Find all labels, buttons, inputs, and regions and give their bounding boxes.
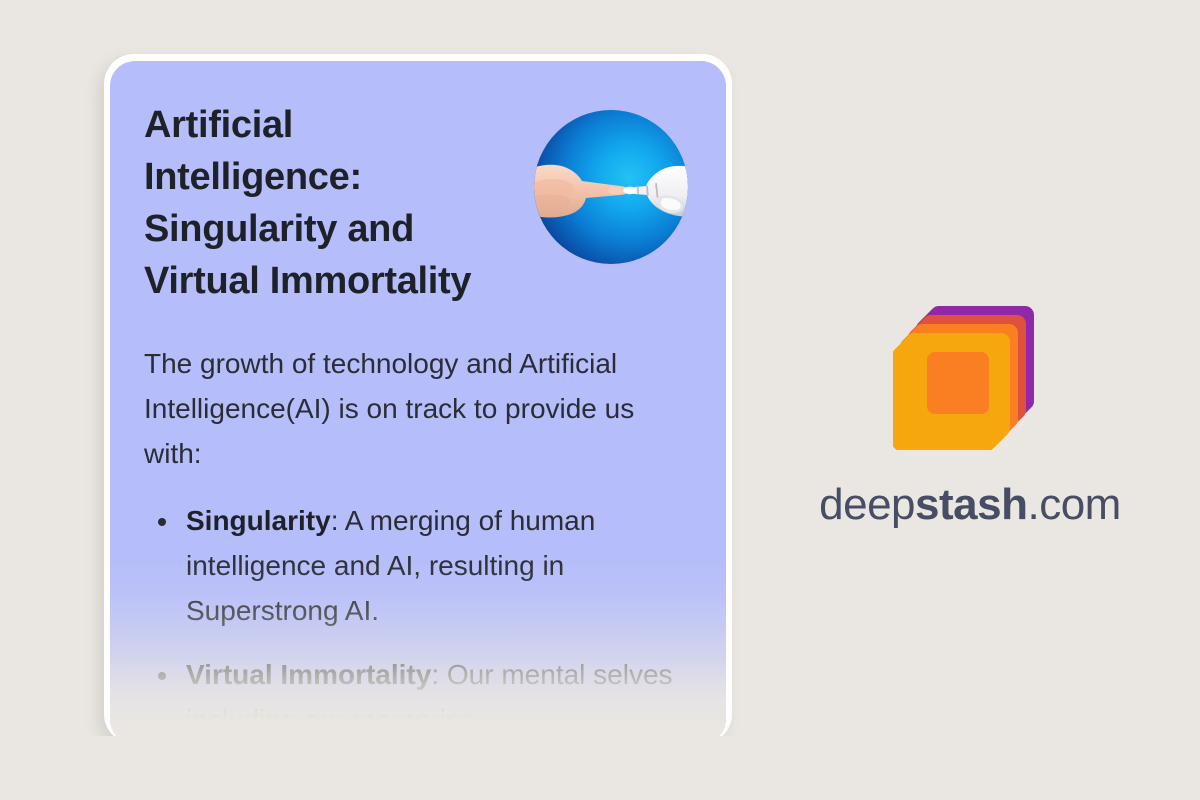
bullet-separator: :: [431, 659, 447, 690]
screenshot-stage: Artificial Intelligence: Singularity and…: [0, 0, 1200, 800]
list-item: Virtual Immortality: Our mental selves i…: [144, 652, 690, 742]
card-bottom-mask: [90, 736, 746, 800]
brand-block[interactable]: deepstash.com: [800, 300, 1140, 530]
idea-card[interactable]: Artificial Intelligence: Singularity and…: [104, 54, 732, 754]
list-item: Singularity: A merging of human intellig…: [144, 498, 690, 633]
wordmark-stash: stash: [915, 480, 1027, 529]
ai-hands-thumbnail-icon: [534, 110, 688, 264]
card-header: Artificial Intelligence: Singularity and…: [144, 99, 690, 307]
deepstash-wordmark: deepstash.com: [819, 480, 1121, 530]
deepstash-logo-icon: [893, 300, 1047, 450]
card-bullet-list: Singularity: A merging of human intellig…: [144, 498, 690, 742]
card-body: The growth of technology and Artificial …: [144, 341, 690, 742]
bullet-term: Singularity: [186, 505, 331, 536]
wordmark-tld: .com: [1027, 480, 1120, 529]
wordmark-deep: deep: [819, 480, 915, 529]
bullet-separator: :: [331, 505, 345, 536]
card-content: Artificial Intelligence: Singularity and…: [110, 61, 726, 742]
card-title: Artificial Intelligence: Singularity and…: [144, 99, 520, 307]
bullet-term: Virtual Immortality: [186, 659, 431, 690]
card-lead-paragraph: The growth of technology and Artificial …: [144, 341, 690, 476]
card-surface: Artificial Intelligence: Singularity and…: [110, 61, 726, 744]
